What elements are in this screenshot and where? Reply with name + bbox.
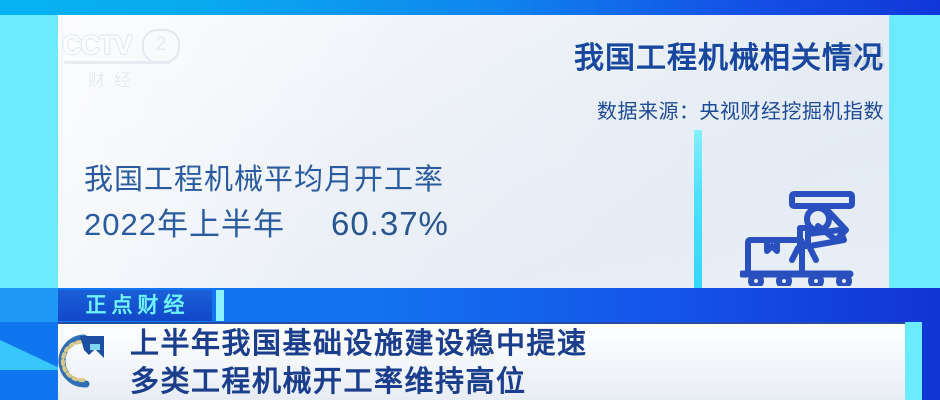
cctv2-channel-logo: CCTV 2 财经 <box>62 30 182 92</box>
right-cyan-band <box>889 15 940 288</box>
stat-value: 60.37% <box>331 205 449 243</box>
headline-secondary: 多类工程机械开工率维持高位 <box>130 363 890 400</box>
headline-primary: 上半年我国基础设施建设稳中提速 <box>130 325 890 363</box>
program-tag-divider <box>216 290 224 321</box>
corner-accent-block <box>0 288 58 322</box>
program-tag: 正点财经 <box>58 290 212 321</box>
stat-period: 2022年上半年 <box>84 207 285 242</box>
cctv-wordmark: CCTV <box>62 30 132 61</box>
channel-sub-label: 财经 <box>88 66 140 91</box>
stat-row: 2022年上半年60.37% <box>84 199 449 244</box>
cctv-finance-circle-logo <box>46 328 124 398</box>
top-gradient-strip <box>0 0 940 15</box>
logo-underline <box>64 61 170 64</box>
cyan-divider-bar <box>694 130 702 288</box>
stat-label: 我国工程机械平均月开工率 <box>84 156 444 198</box>
headline-panel-edge <box>905 322 922 400</box>
tv-broadcast-screenshot: CCTV 2 财经 情况 我国工程机械相关情况 数据来源：央视财经挖掘机指数 我… <box>0 0 940 400</box>
graphic-title: 我国工程机械相关情况 <box>484 33 884 77</box>
left-cyan-band <box>0 15 58 288</box>
channel-number-badge: 2 <box>142 29 180 63</box>
graphic-data-source: 数据来源：央视财经挖掘机指数 <box>440 95 884 124</box>
broadcast-stage: CCTV 2 财经 情况 我国工程机械相关情况 数据来源：央视财经挖掘机指数 我… <box>0 0 940 400</box>
headline-text-block: 上半年我国基础设施建设稳中提速 多类工程机械开工率维持高位 <box>130 325 890 400</box>
robotic-arm-conveyor-icon <box>740 178 860 286</box>
